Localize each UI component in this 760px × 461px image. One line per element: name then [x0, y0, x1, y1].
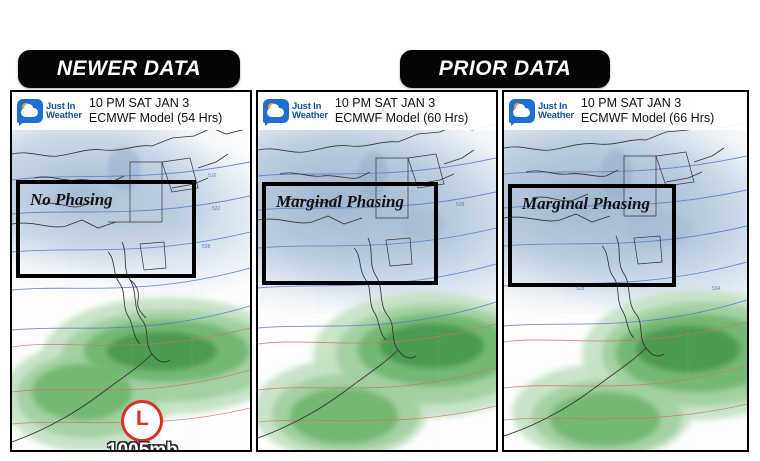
- brand-line-2: Weather: [292, 111, 328, 120]
- forecast-panel-1[interactable]: 516 522 528: [10, 90, 252, 452]
- banner-newer-data: NEWER DATA: [18, 50, 240, 88]
- brand-line-2: Weather: [46, 111, 82, 120]
- model-line-3: ECMWF Model (66 Hrs): [581, 111, 714, 126]
- brand-line-2: Weather: [538, 111, 574, 120]
- weather-map-1[interactable]: 516 522 528: [12, 92, 250, 450]
- map-title-2: 10 PM SAT JAN 3 ECMWF Model (60 Hrs): [335, 96, 468, 126]
- phasing-box-2: Marginal Phasing: [262, 182, 438, 285]
- sun-cloud-icon: [17, 99, 43, 123]
- low-symbol-1: L: [121, 400, 163, 442]
- weather-map-2[interactable]: 516 528: [258, 92, 496, 450]
- phasing-box-1: No Phasing: [16, 180, 196, 278]
- banner-prior-data: PRIOR DATA: [400, 50, 610, 88]
- phasing-label-2: Marginal Phasing: [276, 192, 404, 212]
- model-line-2: ECMWF Model (60 Hrs): [335, 111, 468, 126]
- valid-time-1: 10 PM SAT JAN 3: [89, 96, 222, 111]
- svg-text:534: 534: [712, 286, 721, 292]
- brand-name-1: Just In Weather: [46, 102, 82, 120]
- map-header-3: Just In Weather 10 PM SAT JAN 3 ECMWF Mo…: [504, 92, 747, 130]
- brand-logo-1: Just In Weather: [17, 99, 82, 123]
- model-line-1: ECMWF Model (54 Hrs): [89, 111, 222, 126]
- low-pressure-value-1: 1005mb: [107, 440, 178, 450]
- map-header-1: Just In Weather 10 PM SAT JAN 3 ECMWF Mo…: [12, 92, 250, 130]
- map-title-1: 10 PM SAT JAN 3 ECMWF Model (54 Hrs): [89, 96, 222, 126]
- sun-cloud-icon: [263, 99, 289, 123]
- weather-map-3[interactable]: 528 534: [504, 92, 747, 450]
- forecast-panel-2[interactable]: 516 528: [256, 90, 498, 452]
- phasing-label-3: Marginal Phasing: [522, 194, 650, 214]
- svg-text:528: 528: [456, 202, 465, 208]
- brand-logo-2: Just In Weather: [263, 99, 328, 123]
- phasing-label-1: No Phasing: [30, 190, 113, 210]
- brand-name-3: Just In Weather: [538, 102, 574, 120]
- valid-time-2: 10 PM SAT JAN 3: [335, 96, 468, 111]
- map-title-3: 10 PM SAT JAN 3 ECMWF Model (66 Hrs): [581, 96, 714, 126]
- svg-text:528: 528: [202, 244, 211, 250]
- low-pressure-marker-1: L 1005mb: [107, 400, 178, 450]
- svg-text:522: 522: [212, 206, 221, 212]
- valid-time-3: 10 PM SAT JAN 3: [581, 96, 714, 111]
- sun-cloud-icon: [509, 99, 535, 123]
- forecast-panel-3[interactable]: 528 534: [502, 90, 749, 452]
- svg-text:516: 516: [208, 173, 217, 179]
- map-header-2: Just In Weather 10 PM SAT JAN 3 ECMWF Mo…: [258, 92, 496, 130]
- brand-logo-3: Just In Weather: [509, 99, 574, 123]
- phasing-box-3: Marginal Phasing: [508, 184, 676, 287]
- brand-name-2: Just In Weather: [292, 102, 328, 120]
